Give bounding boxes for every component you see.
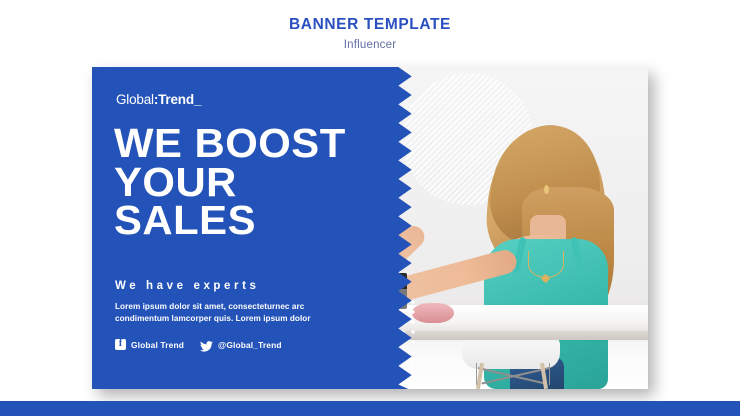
headline-line-3: SALES <box>114 201 410 240</box>
banner-card[interactable]: Global:Trend_ WE BOOST YOUR SALES We hav… <box>92 67 648 389</box>
facebook-icon <box>115 339 126 350</box>
body-line-1: Lorem ipsum dolor sit amet, consecteturn… <box>115 301 347 313</box>
banner-blue-panel: Global:Trend_ WE BOOST YOUR SALES We hav… <box>92 67 425 389</box>
logo-bold-text: :Trend <box>154 92 194 107</box>
page-title: BANNER TEMPLATE <box>0 0 740 33</box>
pink-compact <box>412 303 454 323</box>
twitter-icon <box>200 339 213 350</box>
social-link-twitter[interactable]: @Global_Trend <box>200 339 282 350</box>
twitter-handle: @Global_Trend <box>218 340 282 350</box>
banner-subheadline: We have experts <box>115 280 260 292</box>
brand-logo[interactable]: Global:Trend_ <box>116 92 201 107</box>
earring <box>544 185 549 194</box>
banner-body-copy: Lorem ipsum dolor sit amet, consecteturn… <box>115 301 347 325</box>
social-links: Global Trend @Global_Trend <box>115 339 282 350</box>
page-footer-bar <box>0 401 740 416</box>
headline-line-2: YOUR <box>114 163 410 202</box>
logo-light-text: Global <box>116 92 154 107</box>
headline-line-1: WE BOOST <box>114 124 410 163</box>
page-header: BANNER TEMPLATE Influencer <box>0 0 740 60</box>
social-link-facebook[interactable]: Global Trend <box>115 339 184 350</box>
body-line-2: condimentum lamcorper quis. Lorem ipsum … <box>115 313 347 325</box>
banner-headline: WE BOOST YOUR SALES <box>114 124 410 240</box>
facebook-handle: Global Trend <box>131 340 184 350</box>
page-subtitle: Influencer <box>0 33 740 52</box>
logo-cursor: _ <box>194 92 201 107</box>
